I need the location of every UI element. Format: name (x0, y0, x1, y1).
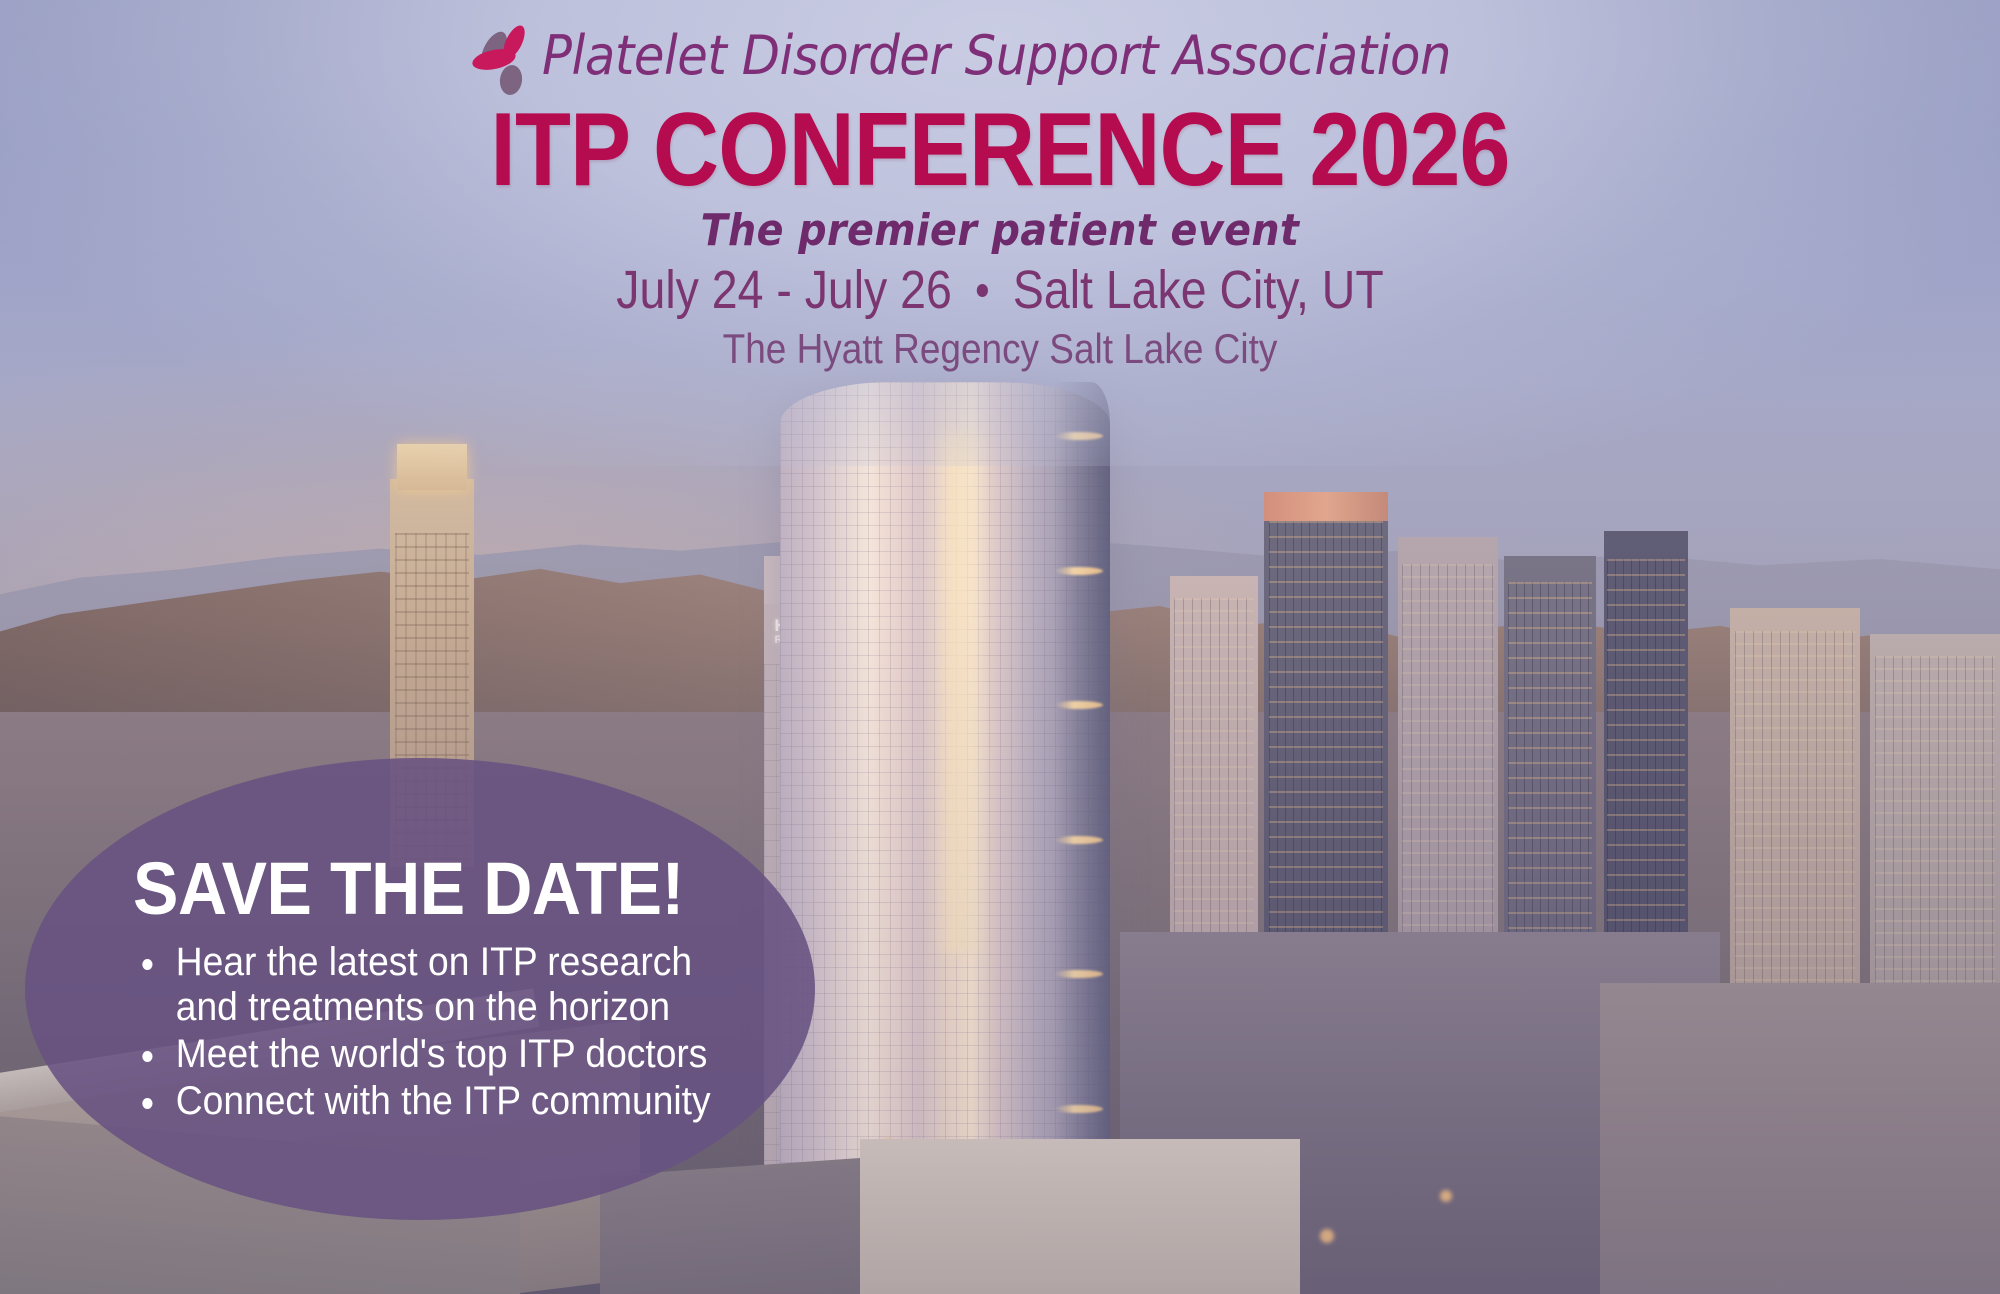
tower-shadow-edge (1054, 382, 1110, 1223)
balcony-light-band (1054, 567, 1104, 575)
page-title: ITP CONFERENCE 2026 (120, 98, 1880, 202)
save-the-date-bullet-list: Hear the latest on ITP research and trea… (133, 940, 754, 1125)
save-the-date-heading: SAVE THE DATE! (133, 852, 684, 926)
bullet-separator-icon (977, 284, 988, 297)
event-date-range: July 24 - July 26 (616, 260, 952, 320)
building-sunlit-top (1264, 492, 1388, 522)
organization-lockup: Platelet Disorder Support Association (0, 18, 2000, 94)
list-item: Meet the world's top ITP doctors (133, 1032, 711, 1077)
save-the-date-badge: SAVE THE DATE! Hear the latest on ITP re… (25, 758, 815, 1220)
itp-conference-save-the-date-poster: HYATT REGENCY (0, 0, 2000, 1294)
event-venue: The Hyatt Regency Salt Lake City (120, 327, 1880, 371)
balcony-light-band (1054, 836, 1104, 844)
list-item: Hear the latest on ITP research and trea… (133, 940, 711, 1030)
organization-name: Platelet Disorder Support Association (542, 29, 1451, 83)
poster-header: Platelet Disorder Support Association IT… (0, 0, 2000, 371)
event-tagline: The premier patient event (100, 208, 1900, 254)
sunset-reflection-highlight (932, 432, 988, 953)
foreground-rooftop-c (860, 1139, 1300, 1294)
hyatt-regency-glass-tower (780, 382, 1110, 1223)
pdsa-butterfly-logo-icon (470, 20, 532, 96)
list-item: Connect with the ITP community (133, 1079, 711, 1124)
event-location: Salt Lake City, UT (1013, 260, 1384, 320)
foreground-lowrise-far-right (1600, 983, 2000, 1294)
event-date-location-line: July 24 - July 26 Salt Lake City, UT (140, 262, 1860, 319)
